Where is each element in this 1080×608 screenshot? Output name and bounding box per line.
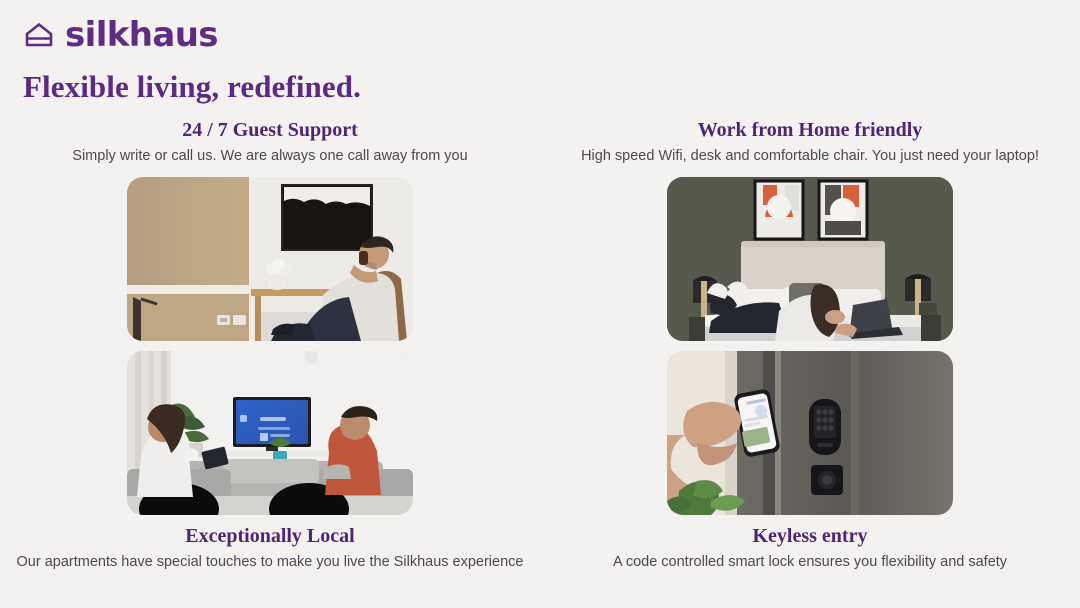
photo-smart-lock-door <box>667 351 953 515</box>
feature-column-left: 24 / 7 Guest Support Simply write or cal… <box>0 118 540 572</box>
feature-body: Simply write or call us. We are always o… <box>72 146 467 167</box>
feature-body: High speed Wifi, desk and comfortable ch… <box>581 146 1039 167</box>
feature-body: A code controlled smart lock ensures you… <box>613 552 1007 573</box>
feature-title: 24 / 7 Guest Support <box>72 118 467 143</box>
feature-title: Keyless entry <box>613 524 1007 549</box>
photo-man-on-phone <box>127 177 413 341</box>
feature-caption-bottom: Exceptionally Local Our apartments have … <box>17 524 524 573</box>
feature-block-work-from-home: Work from Home friendly High speed Wifi,… <box>581 118 1039 572</box>
feature-title: Work from Home friendly <box>581 118 1039 143</box>
feature-caption-bottom: Keyless entry A code controlled smart lo… <box>613 524 1007 573</box>
feature-caption-top: 24 / 7 Guest Support Simply write or cal… <box>72 118 467 167</box>
photo-couple-watching-tv <box>127 351 413 515</box>
page-tagline: Flexible living, redefined. <box>23 70 361 104</box>
feature-grid: 24 / 7 Guest Support Simply write or cal… <box>0 118 1080 572</box>
feature-block-guest-support: 24 / 7 Guest Support Simply write or cal… <box>17 118 524 572</box>
feature-column-right: Work from Home friendly High speed Wifi,… <box>540 118 1080 572</box>
feature-body: Our apartments have special touches to m… <box>17 552 524 573</box>
feature-caption-top: Work from Home friendly High speed Wifi,… <box>581 118 1039 167</box>
photo-woman-on-bed-laptop <box>667 177 953 341</box>
house-outline-icon <box>22 18 56 52</box>
feature-title: Exceptionally Local <box>17 524 524 549</box>
brand-name: silkhaus <box>65 18 218 52</box>
brand-logo: silkhaus <box>22 18 218 52</box>
